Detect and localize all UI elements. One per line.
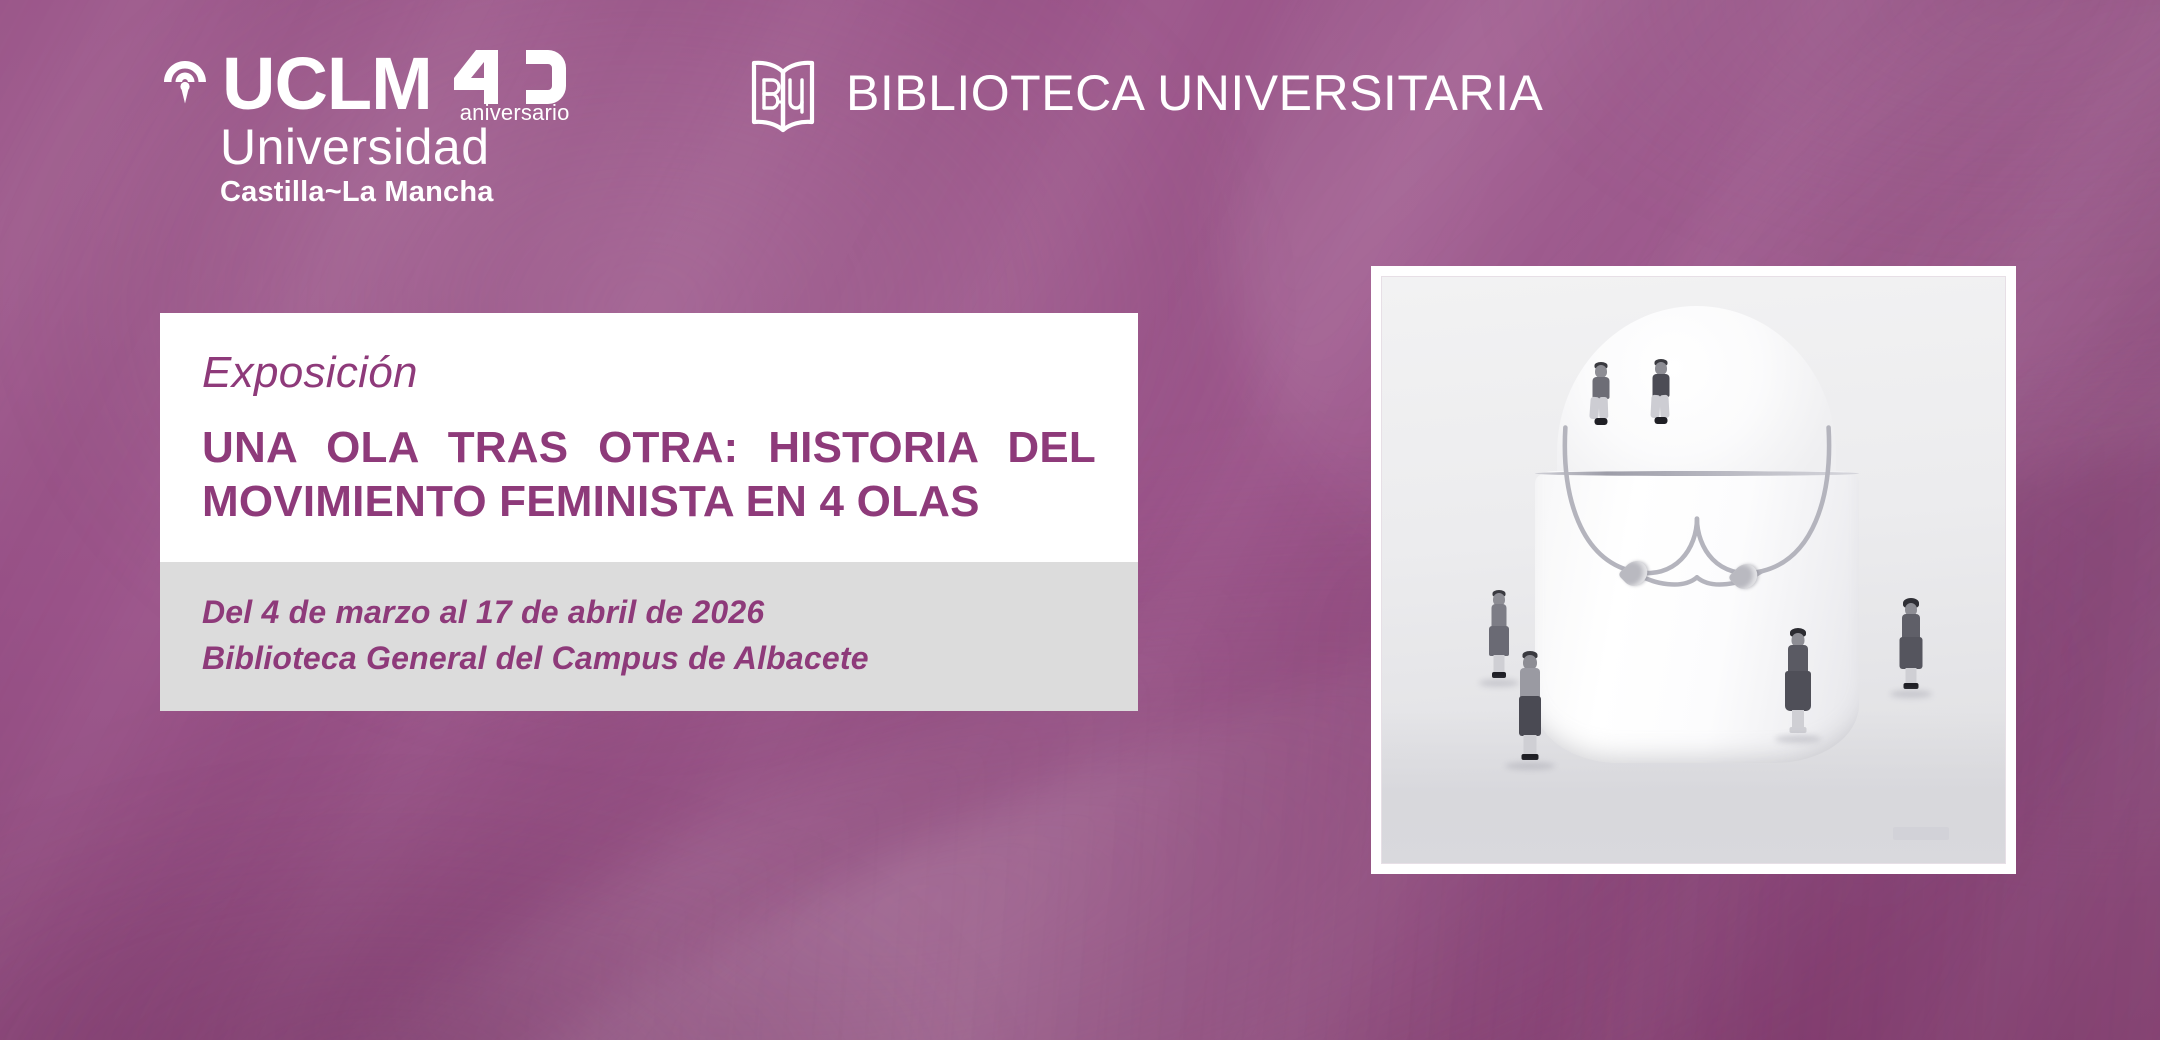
- uclm-acronym: UCLM: [222, 50, 432, 118]
- poster-canvas: UCLM aniversario Universidad Castilla~La…: [0, 0, 2160, 1040]
- header-logos: UCLM aniversario Universidad Castilla~La…: [0, 0, 2160, 220]
- exhibition-info-panel: Exposición UNA OLA TRAS OTRA: HISTORIA D…: [160, 313, 1138, 711]
- exhibition-title-line-1: UNA OLA TRAS OTRA: HISTORIA DEL: [202, 421, 1096, 475]
- uclm-universidad-label: Universidad: [220, 122, 570, 172]
- photo-floor-marker: [1893, 827, 1949, 840]
- radio-wave-icon: [158, 54, 212, 114]
- forty-number-icon: [454, 50, 566, 104]
- open-book-bu-icon: [740, 50, 826, 136]
- exhibition-venue: Biblioteca General del Campus de Albacet…: [202, 636, 1096, 681]
- exhibition-title-line-2: MOVIMIENTO FEMINISTA EN 4 OLAS: [202, 475, 1096, 529]
- library-name: BIBLIOTECA UNIVERSITARIA: [846, 64, 1543, 122]
- uclm-anniversary-label: aniversario: [460, 102, 570, 124]
- uclm-logo: UCLM aniversario Universidad Castilla~La…: [158, 50, 570, 207]
- exhibition-photo-frame: [1371, 266, 2016, 874]
- uclm-logo-top-row: UCLM aniversario: [158, 50, 570, 118]
- exhibition-title: UNA OLA TRAS OTRA: HISTORIA DEL MOVIMIEN…: [202, 421, 1096, 528]
- uclm-anniversary-badge: aniversario: [454, 50, 570, 104]
- figurine-standing-right: [1893, 599, 1929, 697]
- panel-grey-section: Del 4 de marzo al 17 de abril de 2026 Bi…: [160, 562, 1138, 711]
- figurine-seated-left: [1584, 362, 1618, 426]
- library-logo: BIBLIOTECA UNIVERSITARIA: [740, 50, 1543, 136]
- figurine-standing-front-left: [1510, 652, 1550, 770]
- figurine-seated-right: [1644, 359, 1678, 425]
- uclm-region-label: Castilla~La Mancha: [220, 178, 570, 207]
- exhibition-photo: [1381, 276, 2006, 864]
- panel-white-section: Exposición UNA OLA TRAS OTRA: HISTORIA D…: [160, 313, 1138, 562]
- figurine-standing-center-right: [1778, 629, 1818, 741]
- exhibition-dates: Del 4 de marzo al 17 de abril de 2026: [202, 590, 1096, 635]
- event-type-label: Exposición: [202, 351, 1096, 395]
